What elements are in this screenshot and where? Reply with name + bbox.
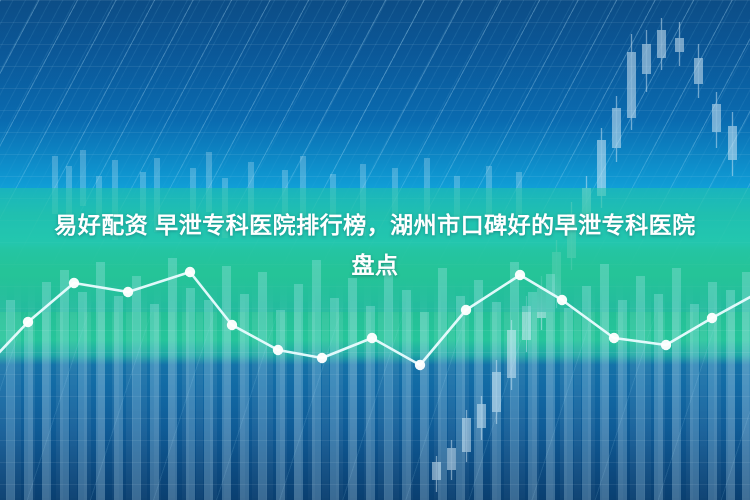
banner-image: 易好配资 早泄专科医院排行榜，湖州市口碑好的早泄专科医院 盘点	[0, 0, 750, 500]
headline-line-2: 盘点	[8, 245, 742, 285]
page-title: 易好配资 早泄专科医院排行榜，湖州市口碑好的早泄专科医院 盘点	[0, 205, 750, 285]
headline-line-1: 易好配资 早泄专科医院排行榜，湖州市口碑好的早泄专科医院	[54, 212, 695, 238]
